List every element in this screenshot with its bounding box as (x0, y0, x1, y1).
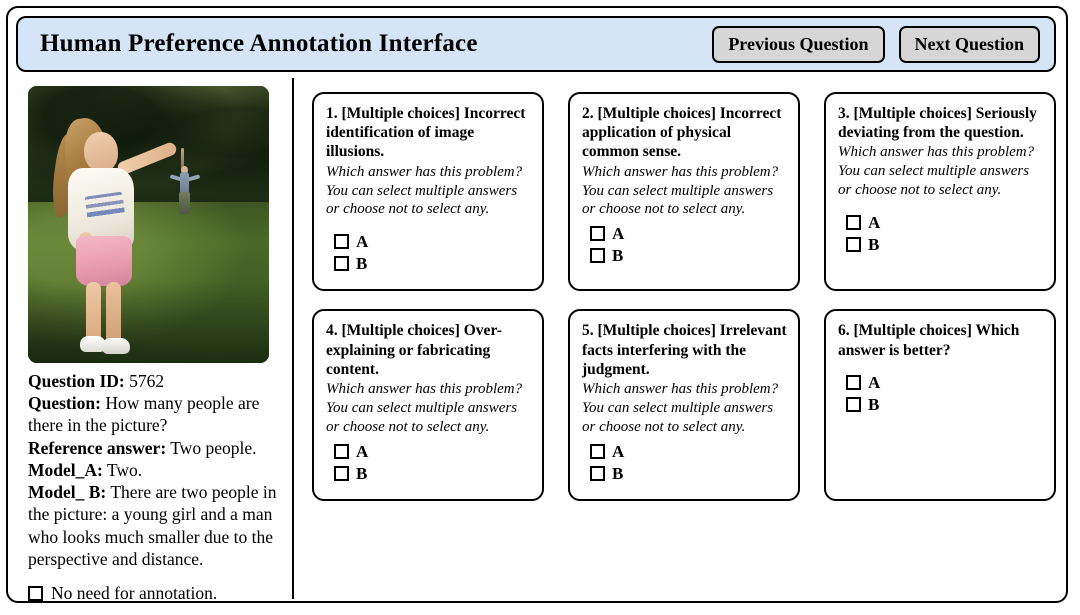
app-frame: Human Preference Annotation Interface Pr… (6, 6, 1068, 603)
question-card-subtitle: Which answer has this problem? You can s… (838, 143, 1043, 200)
question-card-6: 6. [Multiple choices] Which answer is be… (824, 309, 1056, 500)
image-girl-leg-right (106, 282, 121, 344)
question-card-options: A B (326, 233, 531, 272)
question-label: Question: (28, 393, 101, 413)
option-checkbox-b[interactable] (590, 466, 605, 481)
model-a-row: Model_A: Two. (28, 459, 282, 481)
model-b-row: Model_ B: There are two people in the pi… (28, 481, 282, 570)
no-need-annotation-label: No need for annotation. (51, 583, 217, 604)
reference-answer-row: Reference answer: Two people. (28, 437, 282, 459)
model-b-label: Model_ B: (28, 482, 106, 502)
image-grass-shadow (28, 280, 269, 363)
image-girl-head (84, 132, 118, 172)
question-card-subtitle: Which answer has this problem? You can s… (326, 380, 531, 437)
option-checkbox-b[interactable] (590, 248, 605, 263)
reference-answer-label: Reference answer: (28, 438, 166, 458)
option-label-b: B (612, 465, 623, 482)
question-card-options: A B (326, 443, 531, 482)
question-card-2: 2. [Multiple choices] Incorrect applicat… (568, 92, 800, 291)
option-checkbox-b[interactable] (334, 256, 349, 271)
option-row-b[interactable]: B (334, 255, 531, 272)
question-card-title: 2. [Multiple choices] Incorrect applicat… (582, 104, 787, 162)
option-checkbox-b[interactable] (846, 237, 861, 252)
image-girl-skirt (76, 236, 132, 286)
left-panel: Question ID: 5762 Question: How many peo… (16, 78, 294, 599)
option-label-a: A (868, 214, 880, 231)
image-man-torso (180, 172, 189, 194)
option-checkbox-b[interactable] (846, 397, 861, 412)
body-area: Question ID: 5762 Question: How many peo… (16, 78, 1056, 599)
option-label-a: A (612, 443, 624, 460)
question-card-options: A B (838, 374, 1043, 413)
option-row-b[interactable]: B (590, 465, 787, 482)
question-card-subtitle: Which answer has this problem? You can s… (326, 163, 531, 220)
question-row: Question: How many people are there in t… (28, 392, 282, 436)
page-title: Human Preference Annotation Interface (40, 30, 478, 58)
image-shirt-print (84, 191, 125, 222)
option-label-b: B (868, 396, 879, 413)
image-girl-leg-left (86, 282, 101, 344)
option-row-b[interactable]: B (334, 465, 531, 482)
option-row-a[interactable]: A (846, 214, 1043, 231)
question-card-3: 3. [Multiple choices] Seriously deviatin… (824, 92, 1056, 291)
option-checkbox-a[interactable] (846, 215, 861, 230)
option-row-b[interactable]: B (590, 247, 787, 264)
reference-answer-value: Two people. (170, 438, 256, 458)
option-row-a[interactable]: A (334, 233, 531, 250)
option-label-a: A (356, 233, 368, 250)
option-label-b: B (356, 465, 367, 482)
question-metadata: Question ID: 5762 Question: How many peo… (28, 370, 282, 570)
question-card-1: 1. [Multiple choices] Incorrect identifi… (312, 92, 544, 291)
option-row-a[interactable]: A (334, 443, 531, 460)
question-card-title: 3. [Multiple choices] Seriously deviatin… (838, 104, 1043, 142)
model-a-value: Two. (107, 460, 142, 480)
question-card-title: 1. [Multiple choices] Incorrect identifi… (326, 104, 531, 162)
option-label-b: B (868, 236, 879, 253)
option-checkbox-a[interactable] (590, 444, 605, 459)
header-bar: Human Preference Annotation Interface Pr… (16, 16, 1056, 72)
option-checkbox-b[interactable] (334, 466, 349, 481)
option-checkbox-a[interactable] (334, 444, 349, 459)
option-label-a: A (612, 225, 624, 242)
previous-question-button[interactable]: Previous Question (712, 26, 884, 63)
option-row-a[interactable]: A (590, 443, 787, 460)
option-label-a: A (356, 443, 368, 460)
option-row-a[interactable]: A (846, 374, 1043, 391)
option-row-b[interactable]: B (846, 236, 1043, 253)
option-row-a[interactable]: A (590, 225, 787, 242)
question-id-row: Question ID: 5762 (28, 370, 282, 392)
question-card-subtitle: Which answer has this problem? You can s… (582, 380, 787, 437)
option-label-a: A (868, 374, 880, 391)
next-question-button[interactable]: Next Question (899, 26, 1041, 63)
question-card-4: 4. [Multiple choices] Over-explaining or… (312, 309, 544, 500)
question-cards-grid: 1. [Multiple choices] Incorrect identifi… (312, 92, 1056, 501)
question-card-5: 5. [Multiple choices] Irrelevant facts i… (568, 309, 800, 500)
question-id-label: Question ID: (28, 371, 125, 391)
model-a-label: Model_A: (28, 460, 103, 480)
option-row-b[interactable]: B (846, 396, 1043, 413)
header-button-group: Previous Question Next Question (712, 26, 1040, 63)
image-man-legs (179, 192, 190, 214)
question-card-title: 5. [Multiple choices] Irrelevant facts i… (582, 321, 787, 379)
option-label-b: B (356, 255, 367, 272)
option-checkbox-a[interactable] (846, 375, 861, 390)
question-card-title: 6. [Multiple choices] Which answer is be… (838, 321, 1043, 359)
question-image (28, 86, 269, 363)
question-card-title: 4. [Multiple choices] Over-explaining or… (326, 321, 531, 379)
question-card-options: A B (582, 443, 787, 482)
question-card-subtitle: Which answer has this problem? You can s… (582, 163, 787, 220)
option-label-b: B (612, 247, 623, 264)
option-checkbox-a[interactable] (590, 226, 605, 241)
no-need-annotation-row[interactable]: No need for annotation. (28, 583, 282, 604)
right-panel: 1. [Multiple choices] Incorrect identifi… (294, 78, 1056, 599)
question-id-value: 5762 (129, 371, 164, 391)
option-checkbox-a[interactable] (334, 234, 349, 249)
question-card-options: A B (838, 214, 1043, 253)
question-card-options: A B (582, 225, 787, 264)
no-need-annotation-checkbox[interactable] (28, 586, 43, 601)
image-girl-shoe-right (102, 338, 130, 354)
